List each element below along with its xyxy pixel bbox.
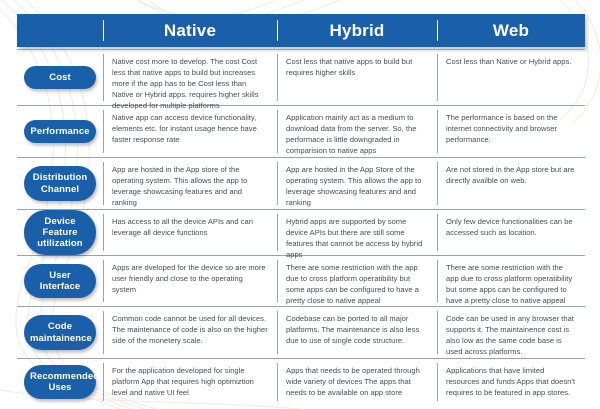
row-label-pill-recommended-uses[interactable]: Recommended Uses [24,365,96,399]
cell-web: Cost less than Native or Hybrid apps. [437,50,585,105]
cell-divider [277,162,278,205]
table-row: Distribution Channel App are hosted in t… [17,158,585,210]
cell-hybrid: Hybrid apps are supported by some device… [277,210,437,255]
row-label-cell: Cost [17,50,103,105]
row-label-cell: Code maintainence [17,307,103,358]
cell-native: Common code cannot be used for all devic… [103,307,277,358]
table-header: Native Hybrid Web [17,14,585,47]
row-label-cell: Distribution Channel [17,158,103,209]
cell-divider [437,260,438,302]
table-row: Device Feature utilization Has access to… [17,210,585,256]
cell-web: The performance is based on the internet… [437,106,585,157]
header-column-web: Web [437,14,585,47]
header-corner-blank [17,14,103,47]
cell-divider [277,260,278,302]
cell-text: Code can be used in any browser that sup… [446,314,574,356]
cell-web: There are some restriction with the app … [437,256,585,306]
cell-web: Code can be used in any browser that sup… [437,307,585,358]
cell-text: Application mainly act as a medium to do… [286,113,416,155]
table-row: Cost Native cost more to develop. The co… [17,49,585,106]
row-label-pill-device-feature-utilization[interactable]: Device Feature utilization [24,210,96,256]
cell-text: For the application developed for single… [112,366,254,397]
cell-text: Native cost more to develop. The cost Co… [112,57,258,110]
header-column-native: Native [103,14,277,47]
cell-native: Native app can access device functionali… [103,106,277,157]
table-row: User Interface Apps are dveloped for the… [17,256,585,307]
cell-text: Only few device functionalities can be a… [446,217,573,237]
row-label-pill-distribution-channel[interactable]: Distribution Channel [24,166,96,200]
table-row: Recommended Uses For the application dev… [17,359,585,405]
cell-text: Codebase can be ported to all major plat… [286,314,419,345]
cell-divider [277,214,278,251]
cell-hybrid: Cost less that native apps to build but … [277,50,437,105]
cell-text: Hybrid apps are supported by some device… [286,217,422,259]
row-label-cell: Recommended Uses [17,359,103,405]
cell-text: Common code cannot be used for all devic… [112,314,268,345]
cell-text: Applications that have limited resources… [446,366,575,397]
row-label-cell: User Interface [17,256,103,306]
cell-hybrid: Apps that needs to be operated through w… [277,359,437,405]
row-label-pill-code-maintainence[interactable]: Code maintainence [24,315,96,349]
header-label-web: Web [493,21,529,41]
cell-hybrid: App are hosted in the App Store of the o… [277,158,437,209]
cell-divider [437,162,438,205]
row-label-cell: Device Feature utilization [17,210,103,255]
cell-divider [437,54,438,101]
cell-divider [437,110,438,153]
cell-native: Native cost more to develop. The cost Co… [103,50,277,105]
comparison-table-page: Native Hybrid Web Cost Native cost more … [0,0,600,409]
cell-native: App are hosted in the App store of the o… [103,158,277,209]
cell-hybrid: There are some restriction with the app … [277,256,437,306]
cell-divider [103,54,104,101]
cell-web: Applications that have limited resources… [437,359,585,405]
cell-divider [277,311,278,354]
header-divider-1 [103,20,104,41]
cell-text: Cost less than Native or Hybrid apps. [446,57,571,66]
cell-text: The performance is based on the internet… [446,113,557,144]
cell-text: Are not stored in the App store but are … [446,165,574,185]
header-divider-3 [437,20,438,41]
cell-divider [103,162,104,205]
table-row: Performance Native app can access device… [17,106,585,158]
cell-text: Native app can access device functionali… [112,113,257,144]
cell-hybrid: Application mainly act as a medium to do… [277,106,437,157]
cell-divider [103,363,104,401]
header-divider-2 [277,20,278,41]
cell-divider [437,311,438,354]
cell-divider [103,110,104,153]
row-label-cell: Performance [17,106,103,157]
table-row: Code maintainence Common code cannot be … [17,307,585,359]
cell-divider [437,214,438,251]
cell-text: There are some restriction with the app … [446,263,572,305]
cell-divider [103,311,104,354]
cell-native: Has access to all the device APIs and ca… [103,210,277,255]
cell-web: Only few device functionalities can be a… [437,210,585,255]
comparison-table-body: Cost Native cost more to develop. The co… [17,49,585,405]
cell-divider [277,110,278,153]
header-label-hybrid: Hybrid [329,21,384,41]
cell-text: Apps that needs to be operated through w… [286,366,420,397]
row-label-pill-performance[interactable]: Performance [24,120,96,143]
cell-divider [277,363,278,401]
row-label-pill-user-interface[interactable]: User Interface [24,264,96,298]
cell-divider [437,363,438,401]
row-label-pill-cost[interactable]: Cost [24,66,96,89]
cell-text: Apps are dveloped for the device so are … [112,263,266,294]
cell-native: Apps are dveloped for the device so are … [103,256,277,306]
cell-native: For the application developed for single… [103,359,277,405]
cell-divider [103,260,104,302]
cell-text: There are some restriction with the app … [286,263,419,305]
header-label-native: Native [164,21,216,41]
header-column-hybrid: Hybrid [277,14,437,47]
cell-divider [277,54,278,101]
cell-web: Are not stored in the App store but are … [437,158,585,209]
cell-hybrid: Codebase can be ported to all major plat… [277,307,437,358]
cell-text: Cost less that native apps to build but … [286,57,412,77]
cell-text: Has access to all the device APIs and ca… [112,217,253,237]
cell-text: App are hosted in the App Store of the o… [286,165,421,207]
cell-text: App are hosted in the App store of the o… [112,165,247,207]
cell-divider [103,214,104,251]
